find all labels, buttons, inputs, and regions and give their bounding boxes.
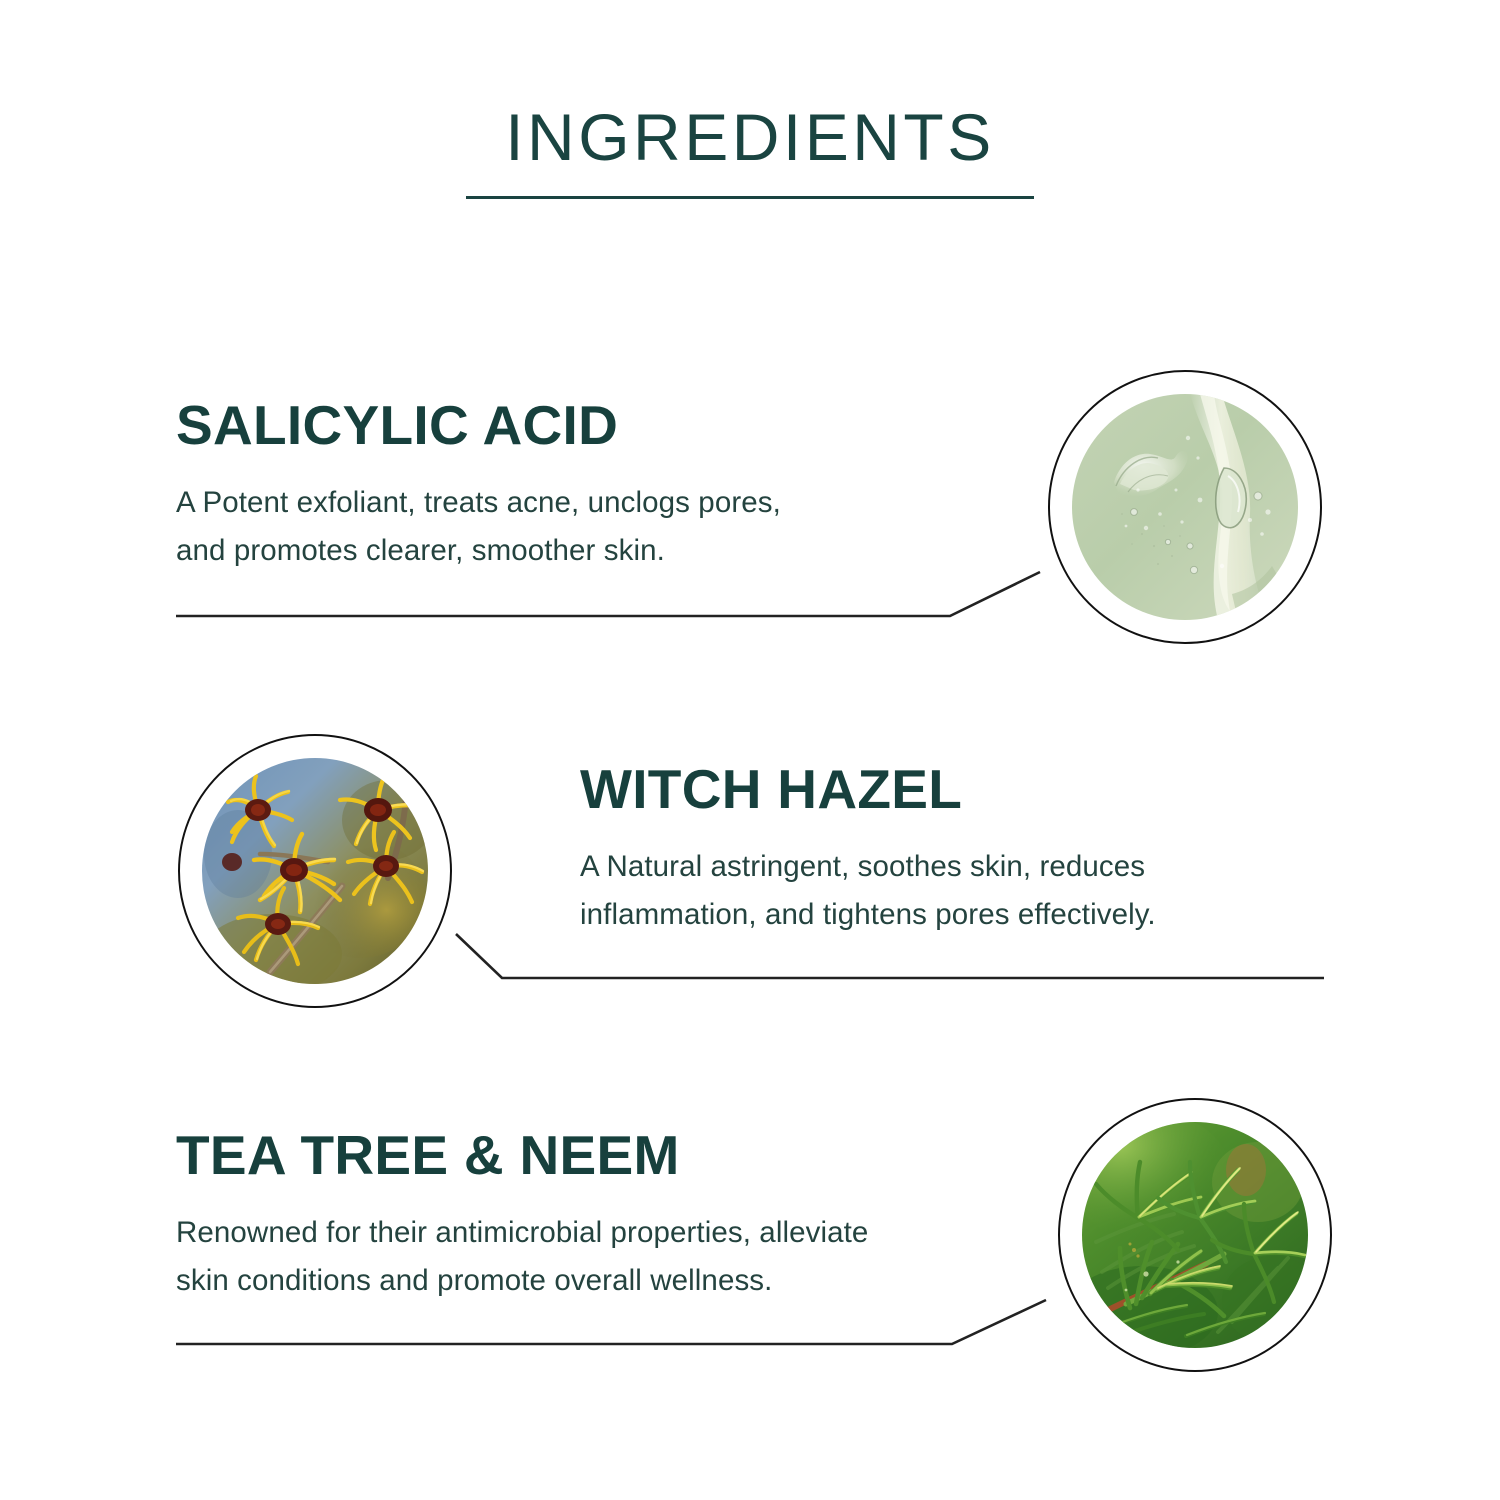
section-salicylic-acid: SALICYLIC ACID A Potent exfoliant, treat…	[176, 398, 936, 575]
ingredient-image-circle-tea-tree-neem	[1058, 1098, 1332, 1372]
section-heading-witch-hazel: WITCH HAZEL	[580, 762, 1340, 817]
section-tea-tree-neem: TEA TREE & NEEM Renowned for their antim…	[176, 1128, 1006, 1305]
witch-hazel-flower-photo	[202, 758, 428, 984]
connector-line-witch-hazel	[456, 934, 1324, 978]
title-block: INGREDIENTS	[0, 104, 1500, 170]
page-title: INGREDIENTS	[0, 104, 1500, 170]
body-line: inflammation, and tightens pores effecti…	[580, 891, 1340, 939]
salicylic-acid-gel-photo	[1072, 394, 1298, 620]
connector-line-salicylic	[176, 572, 1040, 616]
connector-line-tea-tree	[176, 1300, 1046, 1344]
section-witch-hazel: WITCH HAZEL A Natural astringent, soothe…	[580, 762, 1340, 939]
ingredient-image-circle-salicylic-acid	[1048, 370, 1322, 644]
section-heading-salicylic-acid: SALICYLIC ACID	[176, 398, 936, 453]
body-line: and promotes clearer, smoother skin.	[176, 527, 936, 575]
ingredient-image-circle-witch-hazel	[178, 734, 452, 1008]
ingredients-infographic: INGREDIENTS SALICYLIC ACID A Potent exfo…	[0, 0, 1500, 1500]
body-line: A Natural astringent, soothes skin, redu…	[580, 843, 1340, 891]
body-line: skin conditions and promote overall well…	[176, 1257, 1006, 1305]
section-body-tea-tree-neem: Renowned for their antimicrobial propert…	[176, 1209, 1006, 1305]
section-heading-tea-tree-neem: TEA TREE & NEEM	[176, 1128, 1006, 1183]
body-line: Renowned for their antimicrobial propert…	[176, 1209, 1006, 1257]
section-body-salicylic-acid: A Potent exfoliant, treats acne, unclogs…	[176, 479, 936, 575]
body-line: A Potent exfoliant, treats acne, unclogs…	[176, 479, 936, 527]
section-body-witch-hazel: A Natural astringent, soothes skin, redu…	[580, 843, 1340, 939]
title-underline-rule	[466, 196, 1034, 199]
tea-tree-foliage-photo	[1082, 1122, 1308, 1348]
